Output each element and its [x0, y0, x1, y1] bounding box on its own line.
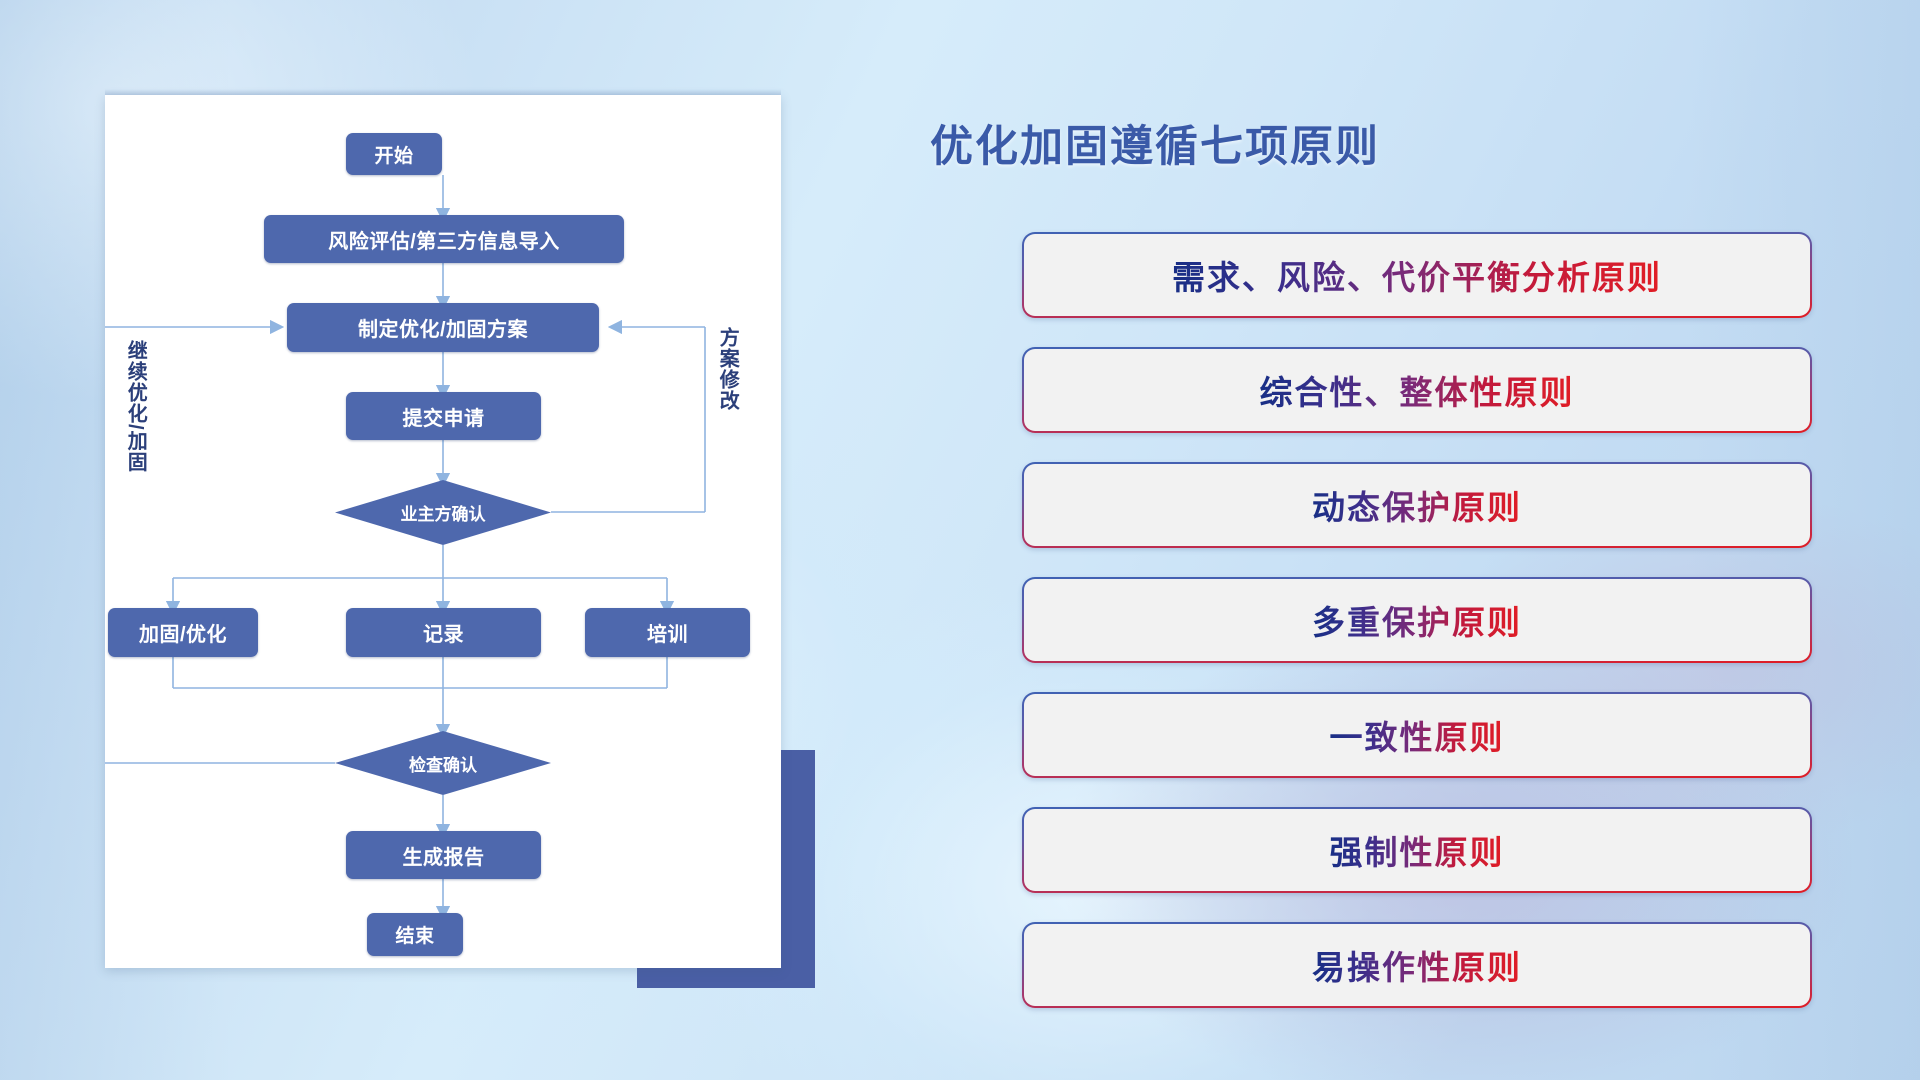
- principle-card-body: 多重保护原则: [1024, 579, 1810, 661]
- flow-node-submit-application[interactable]: 提交申请: [346, 392, 541, 440]
- principle-card-body: 动态保护原则: [1024, 464, 1810, 546]
- flow-node-record[interactable]: 记录: [346, 608, 541, 657]
- principle-card-body: 综合性、整体性原则: [1024, 349, 1810, 431]
- flow-node-risk-assessment[interactable]: 风险评估/第三方信息导入: [264, 215, 624, 263]
- principle-card-label: 强制性原则: [1330, 826, 1505, 874]
- flow-node-end[interactable]: 结束: [367, 913, 463, 956]
- principle-card-label: 多重保护原则: [1312, 596, 1522, 644]
- flow-node-label: 制定优化/加固方案: [358, 313, 528, 342]
- flow-node-generate-report[interactable]: 生成报告: [346, 831, 541, 879]
- flow-node-label: 加固/优化: [139, 618, 227, 647]
- principle-card[interactable]: 易操作性原则: [1022, 922, 1812, 1008]
- flow-node-reinforce[interactable]: 加固/优化: [108, 608, 258, 657]
- principle-card-body: 易操作性原则: [1024, 924, 1810, 1006]
- flow-node-training[interactable]: 培训: [585, 608, 750, 657]
- principles-list: 需求、风险、代价平衡分析原则 综合性、整体性原则 动态保护原则 多重保护原则 一…: [1022, 232, 1812, 1037]
- flow-node-label: 提交申请: [403, 402, 485, 431]
- flow-node-label: 开始: [374, 141, 413, 168]
- principle-card-label: 动态保护原则: [1312, 481, 1522, 529]
- principle-card-body: 需求、风险、代价平衡分析原则: [1024, 234, 1810, 316]
- flow-edge-label-continue-optimize: 继续优化/加固: [124, 340, 145, 485]
- flow-node-label: 风险评估/第三方信息导入: [328, 225, 560, 254]
- principles-title: 优化加固遵循七项原则: [930, 112, 1380, 174]
- flow-node-label: 生成报告: [403, 841, 485, 870]
- flow-node-label: 检查确认: [409, 751, 477, 776]
- principle-card[interactable]: 综合性、整体性原则: [1022, 347, 1812, 433]
- principle-card[interactable]: 动态保护原则: [1022, 462, 1812, 548]
- flow-edge-label-plan-revision: 方案修改: [716, 327, 737, 427]
- flow-node-label: 结束: [395, 921, 434, 948]
- principle-card-body: 一致性原则: [1024, 694, 1810, 776]
- principle-card[interactable]: 强制性原则: [1022, 807, 1812, 893]
- principle-card[interactable]: 一致性原则: [1022, 692, 1812, 778]
- flow-node-label: 记录: [423, 618, 464, 647]
- flowchart-card: 开始 风险评估/第三方信息导入 制定优化/加固方案 提交申请 业主方确认 加固/…: [105, 95, 781, 968]
- principle-card[interactable]: 多重保护原则: [1022, 577, 1812, 663]
- principle-card-label: 易操作性原则: [1312, 941, 1522, 989]
- flow-node-label: 业主方确认: [401, 500, 486, 525]
- principle-card-label: 一致性原则: [1330, 711, 1505, 759]
- flow-node-start[interactable]: 开始: [346, 133, 442, 175]
- flow-node-plan[interactable]: 制定优化/加固方案: [287, 303, 599, 352]
- principle-card-label: 综合性、整体性原则: [1260, 366, 1575, 414]
- principle-card-label: 需求、风险、代价平衡分析原则: [1172, 251, 1662, 299]
- principle-card[interactable]: 需求、风险、代价平衡分析原则: [1022, 232, 1812, 318]
- principle-card-body: 强制性原则: [1024, 809, 1810, 891]
- flow-node-label: 培训: [647, 618, 688, 647]
